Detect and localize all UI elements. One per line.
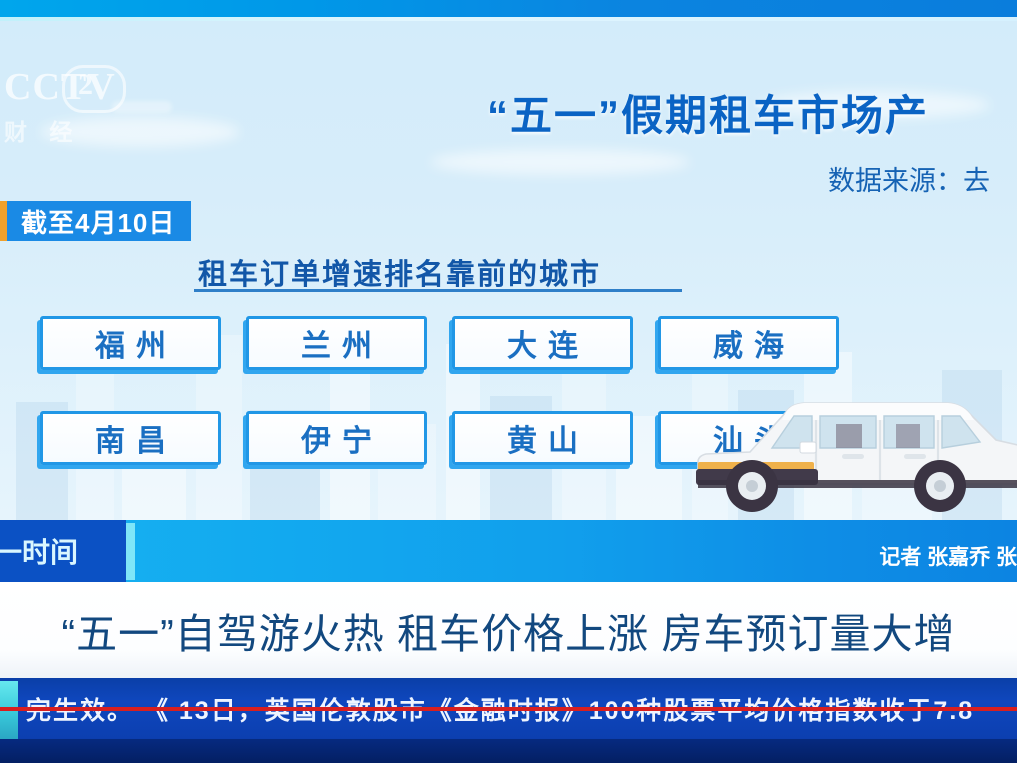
top-gradient-strip [0, 0, 1017, 17]
cctv-logo-tail [112, 101, 172, 113]
city-chip[interactable]: 黄山 [452, 411, 633, 465]
city-chip-label: 兰州 [290, 321, 383, 365]
cctv-logo-subtitle: 财 经 [4, 113, 80, 147]
program-tag-separator [126, 523, 135, 580]
program-name-tag: 一时间 [0, 520, 126, 582]
city-chip[interactable]: 南昌 [40, 411, 221, 465]
car-illustration [690, 366, 1017, 516]
page-title: “五一”假期租车市场产 [487, 82, 929, 143]
headline-text: “五一”自驾游火热 租车价格上涨 房车预订量大增 [61, 600, 955, 660]
date-badge-accent-bar [0, 201, 7, 241]
city-chip[interactable]: 大连 [452, 316, 633, 370]
city-chip-label: 福州 [84, 321, 177, 365]
date-badge: 截至4月10日 [0, 201, 191, 241]
broadcast-screen: CCTV 2 财 经 “五一”假期租车市场产 数据来源：去 截至4月10日 租车… [0, 0, 1017, 763]
section-underline [194, 289, 682, 292]
city-chip-label: 南昌 [84, 416, 177, 460]
city-chip-label: 伊宁 [290, 416, 383, 460]
headline-panel: “五一”自驾游火热 租车价格上涨 房车预订量大增 [0, 582, 1017, 678]
program-name-label: 一时间 [0, 531, 78, 571]
city-chip[interactable]: 威海 [658, 316, 839, 370]
city-chip-label: 大连 [496, 321, 589, 365]
city-chip[interactable]: 兰州 [246, 316, 427, 370]
cctv-logo-number: 2 [78, 68, 93, 102]
city-chip[interactable]: 伊宁 [246, 411, 427, 465]
data-source-label: 数据来源：去 [828, 159, 990, 198]
city-chip[interactable]: 福州 [40, 316, 221, 370]
city-chip-label: 黄山 [496, 416, 589, 460]
graphic-stage: CCTV 2 财 经 “五一”假期租车市场产 数据来源：去 截至4月10日 租车… [0, 21, 1017, 520]
city-chip-label: 威海 [702, 321, 795, 365]
reporter-credit: 记者 张嘉乔 张 [879, 541, 1017, 571]
date-badge-label: 截至4月10日 [7, 201, 191, 241]
ticker-red-line [0, 707, 1017, 711]
lower-blue-bar [0, 520, 1017, 582]
section-heading: 租车订单增速排名靠前的城市 [198, 251, 601, 293]
ticker-bottom-strip [0, 739, 1017, 763]
